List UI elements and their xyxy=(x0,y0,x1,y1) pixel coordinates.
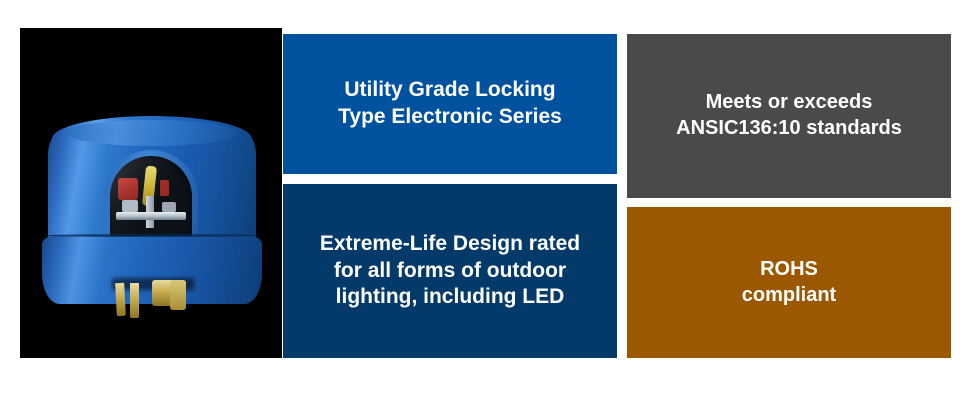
product-photo-panel xyxy=(20,28,282,358)
twist-lock-prong-1 xyxy=(115,283,126,316)
feature-panel-title-text: Utility Grade Locking Type Electronic Se… xyxy=(338,77,562,131)
photocontrol-sensor-image xyxy=(20,28,282,358)
twist-lock-prong-4 xyxy=(170,280,186,310)
feature-panel-design: Extreme-Life Design rated for all forms … xyxy=(283,184,617,358)
sensor-window xyxy=(110,156,192,244)
feature-panel-standards-text: Meets or exceeds ANSIC136:10 standards xyxy=(676,90,902,141)
feature-panel-design-text: Extreme-Life Design rated for all forms … xyxy=(320,231,580,312)
feature-board: Utility Grade Locking Type Electronic Se… xyxy=(0,0,960,400)
window-glass-reflection xyxy=(110,156,192,244)
feature-panel-rohs-text: ROHS compliant xyxy=(742,257,836,308)
feature-panel-standards: Meets or exceeds ANSIC136:10 standards xyxy=(627,34,951,198)
twist-lock-prong-2 xyxy=(130,283,139,318)
feature-panel-title: Utility Grade Locking Type Electronic Se… xyxy=(283,34,617,174)
sensor-skirt-seam xyxy=(44,234,260,237)
sensor-cap-rim xyxy=(66,120,238,146)
feature-panel-rohs: ROHS compliant xyxy=(627,207,951,358)
